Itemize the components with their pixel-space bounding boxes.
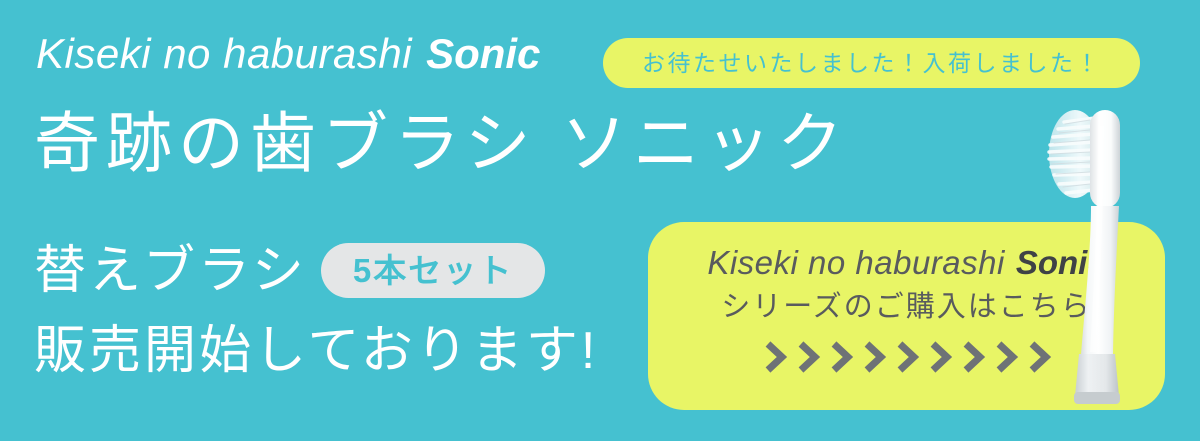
set-count-badge: 5本セット xyxy=(321,243,545,298)
promo-banner: Kiseki no haburashi Sonic お待たせいたしました！入荷し… xyxy=(0,0,1200,441)
subcopy-row-one: 替えブラシ 5本セット xyxy=(34,243,545,298)
brand-logo-romaji: Kiseki no haburashi xyxy=(36,33,412,75)
chevron-right-icon xyxy=(793,340,823,374)
set-count-label: 5本セット xyxy=(353,254,513,287)
cta-chevron-strip xyxy=(760,340,1054,374)
chevron-right-icon xyxy=(892,340,922,374)
chevron-right-icon xyxy=(826,340,856,374)
toothbrush-head-icon xyxy=(1038,96,1170,414)
cta-subtitle: シリーズのご購入はこちら xyxy=(721,293,1092,322)
replacement-brush-label: 替えブラシ xyxy=(34,245,307,297)
brand-logo-sonic: Sonic xyxy=(426,33,540,75)
chevron-right-icon xyxy=(991,340,1021,374)
on-sale-label: 販売開始しております! xyxy=(34,325,598,377)
chevron-right-icon xyxy=(925,340,955,374)
brand-logo: Kiseki no haburashi Sonic xyxy=(36,33,540,91)
page-title: 奇跡の歯ブラシ ソニック xyxy=(34,106,849,182)
cta-brand-logo-romaji: Kiseki no haburashi xyxy=(707,246,1005,279)
restock-badge-label: お待たせいたしました！入荷しました！ xyxy=(642,52,1101,75)
chevron-right-icon xyxy=(760,340,790,374)
restock-badge: お待たせいたしました！入荷しました！ xyxy=(603,38,1140,88)
chevron-right-icon xyxy=(859,340,889,374)
chevron-right-icon xyxy=(958,340,988,374)
